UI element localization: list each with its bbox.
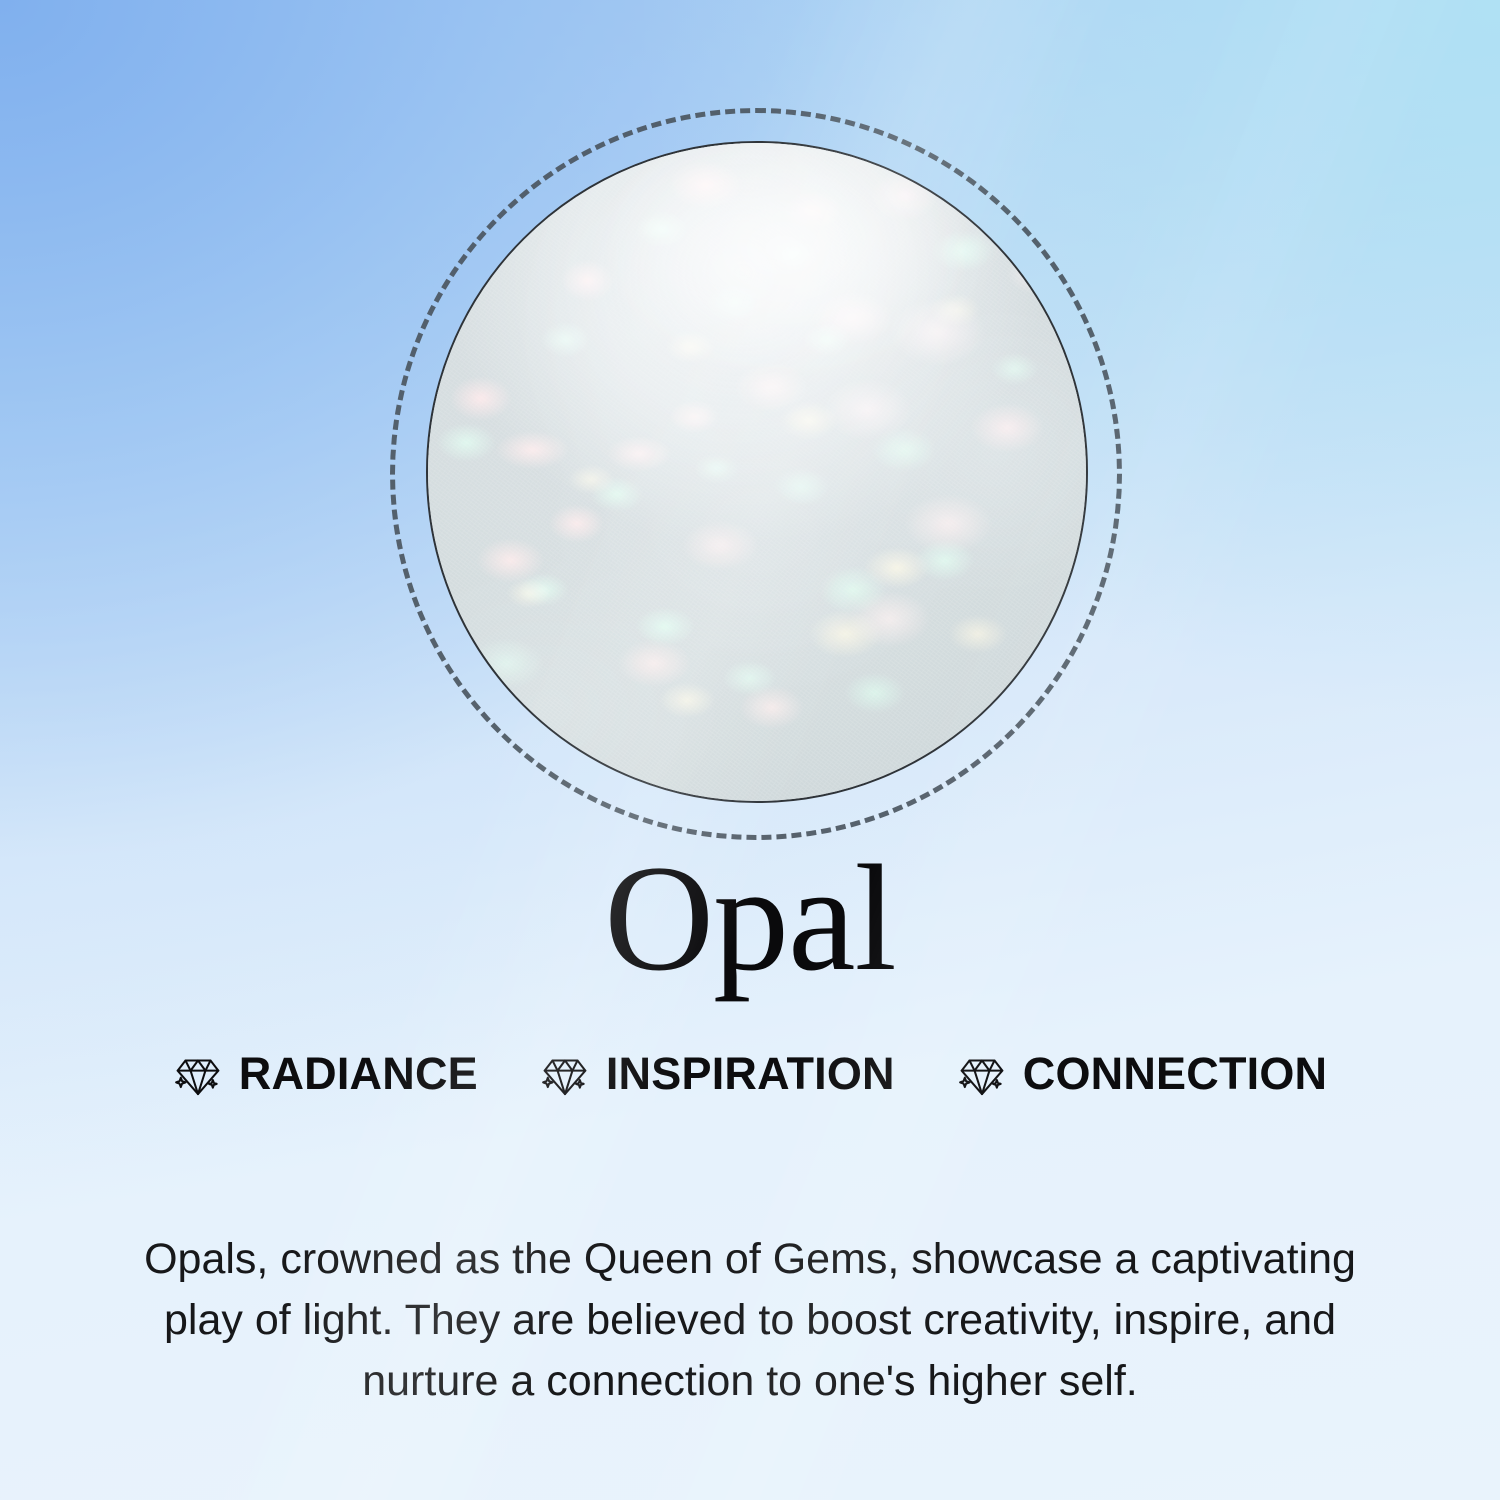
gem-name-title: Opal — [0, 842, 1500, 994]
opal-milky-haze-layer — [426, 141, 1088, 803]
attribute-item-connection: CONNECTION — [957, 1048, 1328, 1098]
diamond-icon — [173, 1048, 223, 1098]
attribute-list: RADIANCE INSPIRATION — [0, 1048, 1500, 1098]
diamond-icon — [957, 1048, 1007, 1098]
gemstone-info-card: Opal RADIANCE — [0, 0, 1500, 1500]
attribute-item-inspiration: INSPIRATION — [540, 1048, 895, 1098]
gem-description: Opals, crowned as the Queen of Gems, sho… — [136, 1229, 1364, 1412]
attribute-label: INSPIRATION — [606, 1051, 895, 1096]
attribute-item-radiance: RADIANCE — [173, 1048, 478, 1098]
attribute-label: CONNECTION — [1023, 1051, 1328, 1096]
diamond-icon — [540, 1048, 590, 1098]
attribute-label: RADIANCE — [239, 1051, 478, 1096]
gem-illustration — [390, 108, 1122, 840]
opal-gemstone-image — [426, 141, 1088, 803]
